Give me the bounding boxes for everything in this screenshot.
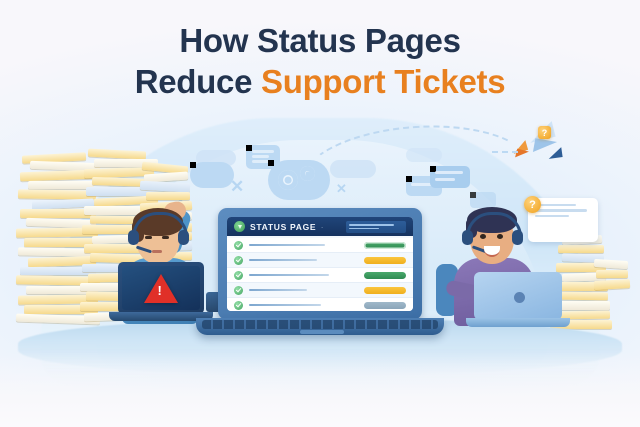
status-row[interactable] [227, 238, 413, 253]
laptop-screen [122, 266, 200, 310]
question-mark-icon: ? [538, 126, 551, 139]
floor-fade [0, 352, 640, 427]
right-agent-laptop [474, 272, 562, 330]
dashed-arc-icon [492, 151, 518, 153]
laptop-trackpad[interactable] [300, 330, 344, 334]
status-page-laptop: STATUS PAGE . [218, 208, 422, 330]
status-page-subtitle: . [321, 224, 323, 230]
check-circle-icon [234, 271, 243, 280]
headset-earcup-icon [462, 230, 473, 245]
bubble-line [252, 155, 269, 158]
status-page-rows [227, 236, 413, 311]
status-page-screen[interactable]: STATUS PAGE . [227, 217, 413, 311]
check-circle-icon [234, 301, 243, 310]
status-row-label [249, 289, 307, 292]
headset-earcup-icon [178, 230, 189, 245]
status-badge [364, 257, 406, 264]
illustration-canvas: ✕ ✕ ✕ ? [0, 0, 640, 427]
agent-eye [480, 234, 486, 239]
headset-earcup-icon [512, 230, 523, 245]
agent-eye [162, 236, 169, 239]
status-page-title: STATUS PAGE [250, 222, 316, 232]
title-line-1: How Status Pages [0, 22, 640, 61]
laptop-keyboard[interactable] [202, 320, 438, 329]
status-row-label [249, 304, 321, 307]
paper-plane-icon [547, 147, 562, 159]
agent-mouth [152, 250, 162, 253]
gear-icon [278, 170, 298, 190]
headset-earcup-icon [128, 230, 139, 245]
agent-eye [145, 236, 152, 239]
close-x-icon: ✕ [230, 178, 244, 195]
status-row[interactable] [227, 253, 413, 268]
left-agent-laptop [118, 262, 204, 322]
check-circle-icon [234, 256, 243, 265]
status-row-label [249, 244, 325, 247]
status-badge [364, 287, 406, 294]
status-row[interactable] [227, 283, 413, 298]
status-page-header: STATUS PAGE . [227, 217, 413, 236]
status-badge [364, 242, 406, 249]
status-row[interactable] [227, 268, 413, 283]
bubble-line [252, 150, 274, 153]
status-badge [364, 302, 406, 309]
chat-bubble-icon [190, 162, 234, 188]
download-circle-icon [234, 221, 245, 232]
check-circle-icon [234, 286, 243, 295]
title-line-2-highlight: Support Tickets [261, 63, 505, 100]
status-row[interactable] [227, 298, 413, 311]
agent-eye [497, 234, 503, 239]
status-badge [364, 272, 406, 279]
status-row-label [249, 274, 329, 277]
status-page-meta-placeholder [346, 221, 406, 233]
page-title: How Status Pages Reduce Support Tickets [0, 22, 640, 102]
status-row-label [249, 259, 317, 262]
laptop-logo-icon [514, 292, 525, 303]
check-circle-icon [234, 241, 243, 250]
title-line-2: Reduce Support Tickets [0, 63, 640, 102]
title-line-2-prefix: Reduce [135, 63, 261, 100]
laptop-base [466, 318, 570, 327]
warning-triangle-icon [144, 274, 178, 303]
